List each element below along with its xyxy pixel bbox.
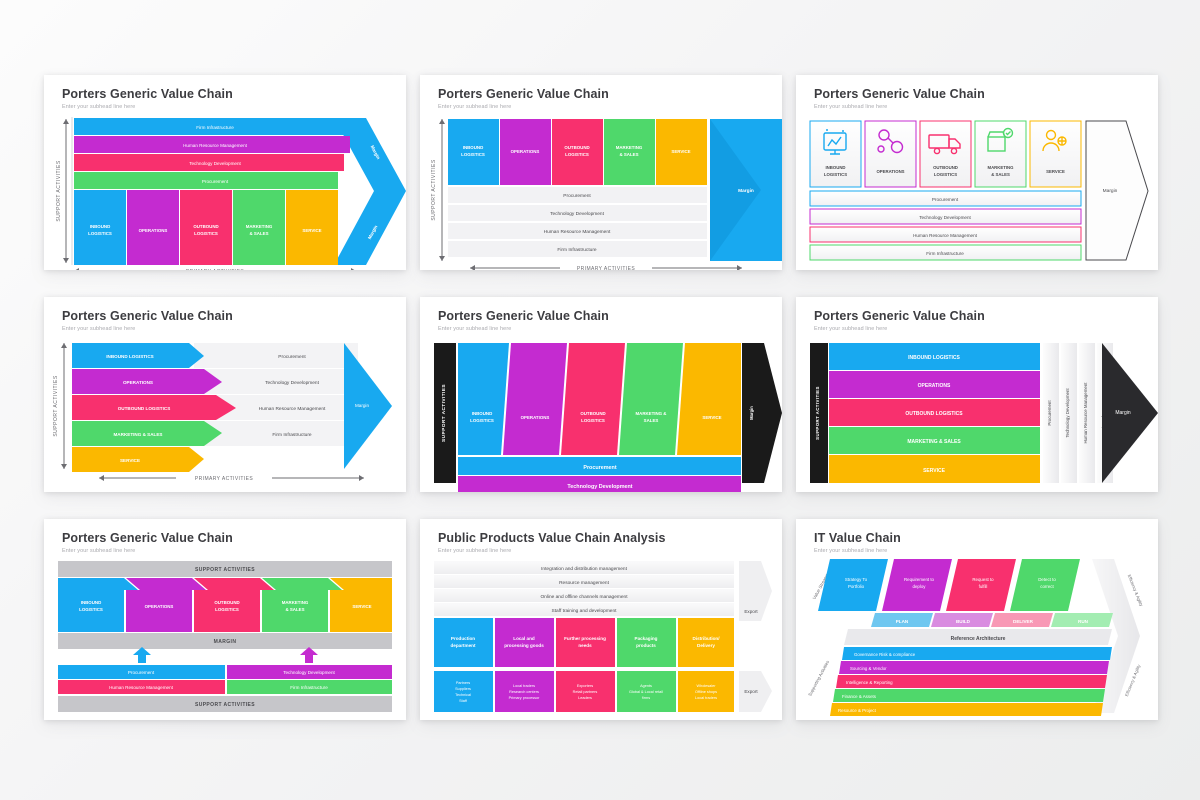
support-rows: Firm Infrastructure Human Resource Manag… xyxy=(74,118,356,189)
slide-7-diagram: SUPPORT ACTIVITIES INBOUND LOGISTICS OPE… xyxy=(44,519,406,719)
primary-col-line1: SERVICE xyxy=(352,604,371,609)
support-activities-axis: SUPPORT ACTIVITIES xyxy=(431,119,445,261)
upward-arrows xyxy=(133,647,318,663)
bottom-pair-label: Procurement xyxy=(128,670,155,675)
slide-6-diagram: SUPPORT ACTIVITIES INBOUND LOGISTICS OPE… xyxy=(796,297,1158,492)
margin-label: Margin xyxy=(1115,410,1131,416)
slide-card-4[interactable]: Porters Generic Value Chain Enter your s… xyxy=(44,297,406,492)
primary-col-line1: OPERATIONS xyxy=(145,604,174,609)
slide-card-8[interactable]: Public Products Value Chain Analysis Ent… xyxy=(420,519,782,720)
card-label-line1: OPERATIONS xyxy=(876,169,904,174)
primary-col-line1: OUTBOUND xyxy=(214,600,239,605)
primary-col-line2: LOGISTICS xyxy=(194,231,218,236)
main-cell-line1: Production xyxy=(451,636,475,641)
primary-activities-axis: PRIMARY ACTIVITIES xyxy=(99,475,364,482)
header-row-label: Integration and distribution management xyxy=(541,566,628,572)
band-label-bottom: SUPPORT ACTIVITIES xyxy=(195,702,255,708)
primary-row-label: INBOUND LOGISTICS xyxy=(106,354,153,359)
primary-col-line1: SERVICE xyxy=(671,149,690,154)
primary-col-line1: MARKETING xyxy=(616,145,643,150)
primary-col-line1: OUTBOUND xyxy=(580,411,605,416)
primary-col-line2: LOGISTICS xyxy=(565,152,589,157)
main-cell-line2: department xyxy=(450,643,475,648)
support-rows: Procurement Technology Development Human… xyxy=(458,457,741,492)
support-rows: Procurement Technology Development Human… xyxy=(194,343,358,446)
stream-phase: RUN xyxy=(1078,619,1089,624)
sub-cell-line: Local traders xyxy=(513,684,535,688)
primary-rows: INBOUND LOGISTICS OPERATIONS OUTBOUND LO… xyxy=(829,343,1040,483)
primary-col-line2: LOGISTICS xyxy=(581,418,605,423)
main-cell-line2: processing goods xyxy=(504,643,544,648)
slide-card-9[interactable]: IT Value Chain Enter your subhead line h… xyxy=(796,519,1158,720)
primary-col-line2: SALES xyxy=(644,418,659,423)
primary-col-line1: SERVICE xyxy=(302,228,321,233)
axis-label-primary: PRIMARY ACTIVITIES xyxy=(195,476,253,482)
stream-phase: PLAN xyxy=(896,619,909,624)
sub-cell-line: Agents xyxy=(640,684,652,688)
margin-label: Margin xyxy=(738,188,754,194)
sub-cell-line: Local traders xyxy=(695,696,717,700)
support-row-label: Human Resource Management xyxy=(259,406,326,412)
margin-arrow: Margin xyxy=(1086,121,1148,260)
primary-row-label: OPERATIONS xyxy=(918,383,951,389)
primary-col-line1: OUTBOUND xyxy=(564,145,589,150)
primary-row-label: SERVICE xyxy=(923,468,946,474)
header-rows: Integration and distribution management … xyxy=(434,561,734,616)
primary-col-line1: OPERATIONS xyxy=(139,228,168,233)
support-row-label: Human Resource Management xyxy=(544,229,611,235)
stream-line2: fulfill xyxy=(979,584,988,589)
primary-col-line2: LOGISTICS xyxy=(79,607,103,612)
margin-arrow: Margin xyxy=(1102,343,1158,483)
slide-card-5[interactable]: Porters Generic Value Chain Enter your s… xyxy=(420,297,782,492)
margin-label: Margin xyxy=(355,403,369,408)
stream-line1: Strategy To xyxy=(845,577,868,582)
sub-cell-line: Research centers xyxy=(509,690,539,694)
sub-cell-line: Staff xyxy=(459,699,468,703)
slide-card-2[interactable]: Porters Generic Value Chain Enter your s… xyxy=(420,75,782,270)
main-cell-line1: Packaging xyxy=(635,636,658,641)
band-label-top: SUPPORT ACTIVITIES xyxy=(195,567,255,573)
support-row-label: Procurement xyxy=(563,193,591,199)
slide-9-diagram: Efficiency & Agility Efficiency & Agilit… xyxy=(796,519,1158,719)
primary-col-line1: OPERATIONS xyxy=(521,415,550,420)
primary-icon-cards[interactable]: INBOUND LOGISTICS OPERATIONS OUTBOUND xyxy=(810,121,1081,187)
main-cell-line2: needs xyxy=(578,643,592,648)
bottom-pair-label: Firm Infrastructure xyxy=(290,685,328,690)
header-row-label: Online and offline channels management xyxy=(540,594,628,600)
export-arrow-top: Export xyxy=(739,561,772,621)
support-row-label: Procurement xyxy=(583,465,616,471)
sub-cell-line: Suppliers xyxy=(455,687,471,691)
stream-line1: Requirement to xyxy=(904,577,935,582)
slide-5-diagram: SUPPORT ACTIVITIES Margin INBOUND LOGIST… xyxy=(420,297,782,492)
slide-2-diagram: SUPPORT ACTIVITIES INBOUND LOGISTICS OPE… xyxy=(420,75,782,270)
margin-label: Margin xyxy=(749,406,754,420)
stream-line1: Detect to xyxy=(1038,577,1056,582)
primary-col-line1: MARKETING xyxy=(282,600,309,605)
sub-cell-line: Partners xyxy=(456,681,470,685)
support-col-label: Procurement xyxy=(1047,400,1052,426)
support-row-label: Procurement xyxy=(202,179,229,184)
slide-card-6[interactable]: Porters Generic Value Chain Enter your s… xyxy=(796,297,1158,492)
reference-label: Reference Architecture xyxy=(951,636,1006,642)
supporting-label: Finance & Assets xyxy=(842,694,877,699)
support-rows: Procurement Technology Development Human… xyxy=(810,191,1081,260)
card-label-line2: LOGISTICS xyxy=(934,172,957,177)
axis-label-support: SUPPORT ACTIVITIES xyxy=(441,384,447,442)
sub-cell-line: Leaders xyxy=(578,696,592,700)
primary-row-label: OUTBOUND LOGISTICS xyxy=(118,406,171,411)
support-row-label: Technology Development xyxy=(550,211,605,217)
sub-cell-line: Global & Local retail xyxy=(629,690,663,694)
slide-card-1[interactable]: Porters Generic Value Chain Enter your s… xyxy=(44,75,406,270)
card-label-line1: OUTBOUND xyxy=(933,165,958,170)
primary-columns: INBOUND LOGISTICS OPERATIONS OUTBOUND LO… xyxy=(448,119,707,185)
primary-col-line1: OUTBOUND xyxy=(193,224,218,229)
band-label-margin: MARGIN xyxy=(214,639,237,645)
header-row-label: Staff training and development xyxy=(552,608,618,614)
axis-label-support: SUPPORT ACTIVITIES xyxy=(431,159,437,220)
slide-1-diagram: SUPPORT ACTIVITIES Margin Margin Firm In… xyxy=(44,75,406,270)
axis-label-support: SUPPORT ACTIVITIES xyxy=(53,375,59,436)
main-cell-line2: products xyxy=(636,643,656,648)
left-label-supporting: Supporting Activities xyxy=(807,659,830,697)
export-label: Export xyxy=(744,689,758,694)
primary-col-line2: LOGISTICS xyxy=(88,231,112,236)
main-cell-line1: Local and xyxy=(513,636,535,641)
sub-cell-line: Exporters xyxy=(577,684,593,688)
primary-row-label: INBOUND LOGISTICS xyxy=(908,355,960,361)
support-col-label: Technology Development xyxy=(1065,388,1070,438)
primary-columns: INBOUND LOGISTICS OPERATIONS OUTBOUND LO… xyxy=(74,190,338,265)
sub-cell-line: Retail partners xyxy=(573,690,598,694)
axis-label-support: SUPPORT ACTIVITIES xyxy=(56,160,62,221)
primary-col-line1: MARKETING & xyxy=(636,411,668,416)
axis-label-primary: PRIMARY ACTIVITIES xyxy=(577,266,635,270)
primary-row-label: MARKETING & SALES xyxy=(907,439,961,445)
axis-label-primary: PRIMARY ACTIVITIES xyxy=(186,269,244,270)
support-row-label: Technology Development xyxy=(189,161,241,166)
band-margin: MARGIN xyxy=(58,633,392,649)
supporting-activities: Governance Risk & compliance Sourcing & … xyxy=(830,647,1112,716)
main-cell-line2: Delivery xyxy=(697,643,715,648)
support-activities-axis: SUPPORT ACTIVITIES xyxy=(53,343,67,469)
support-row-label: Human Resource Management xyxy=(913,233,978,238)
support-activities-rail: SUPPORT ACTIVITIES xyxy=(810,343,828,483)
export-label: Export xyxy=(744,609,758,614)
supporting-label: Intelligence & Reporting xyxy=(846,680,893,685)
slide-4-diagram: SUPPORT ACTIVITIES Procurement Technolog… xyxy=(44,297,406,492)
sub-cell-line: Technical xyxy=(455,693,471,697)
support-row-label: Procurement xyxy=(278,354,306,360)
primary-row-label: SERVICE xyxy=(120,458,140,463)
primary-col-line2: & SALES xyxy=(285,607,304,612)
supporting-label: Resource & Project xyxy=(838,708,877,713)
bottom-support-pairs: Procurement Technology Development Human… xyxy=(58,665,392,694)
primary-col-line2: & SALES xyxy=(249,231,268,236)
support-row-label: Firm Infrastructure xyxy=(272,432,312,438)
sub-cell-line: firms xyxy=(642,696,650,700)
primary-col-line1: MARKETING xyxy=(246,224,273,229)
support-row-label: Procurement xyxy=(932,197,959,202)
support-row-label: Technology Development xyxy=(919,215,971,220)
primary-chevrons: INBOUND LOGISTICS OPERATIONS OUTBOUND LO… xyxy=(58,578,392,632)
primary-row-label: OUTBOUND LOGISTICS xyxy=(905,411,963,417)
sub-cell-line: Wholesaler xyxy=(697,684,717,688)
header-row-label: Resource management xyxy=(559,580,610,586)
band-support-top: SUPPORT ACTIVITIES xyxy=(58,561,392,577)
slide-grid: Porters Generic Value Chain Enter your s… xyxy=(44,75,1158,720)
support-row-label: Firm Infrastructure xyxy=(196,125,234,130)
margin-arrow: Margin xyxy=(710,119,782,261)
primary-col-line1: OPERATIONS xyxy=(511,149,540,154)
primary-activities-axis: PRIMARY ACTIVITIES xyxy=(74,268,356,270)
primary-row-label: OPERATIONS xyxy=(123,380,153,385)
value-streams: Strategy To Portfolio PLAN Requirement t… xyxy=(818,559,1113,627)
primary-col-line2: LOGISTICS xyxy=(215,607,239,612)
main-cells: Production department Local and processi… xyxy=(434,618,734,667)
slide-card-7[interactable]: Porters Generic Value Chain Enter your s… xyxy=(44,519,406,720)
support-rows: Procurement Technology Development Human… xyxy=(448,187,707,257)
sub-cells: Partners Suppliers Technical Staff Local… xyxy=(434,671,734,712)
stream-phase: DELIVER xyxy=(1013,619,1034,624)
axis-label-support: SUPPORT ACTIVITIES xyxy=(815,386,820,440)
bottom-pair-label: Technology Development xyxy=(283,670,335,675)
stream-phase: BUILD xyxy=(956,619,971,624)
primary-col-line2: & SALES xyxy=(619,152,638,157)
stream-line2: correct xyxy=(1040,584,1054,589)
support-activities-rail: SUPPORT ACTIVITIES xyxy=(434,343,456,483)
supporting-label: Governance Risk & compliance xyxy=(854,652,916,657)
card-label-line1: MARKETING xyxy=(987,165,1014,170)
supporting-label: Sourcing & Vendor xyxy=(850,666,887,671)
card-label-line1: INBOUND xyxy=(825,165,845,170)
export-arrow-bottom: Export xyxy=(739,671,772,712)
support-col-label: Human Resource Management xyxy=(1083,382,1088,444)
support-row-label: Technology Development xyxy=(567,484,632,490)
sub-cell-line: Offline shops xyxy=(695,690,717,694)
margin-arrow: Margin xyxy=(742,343,782,483)
primary-col-line1: INBOUND xyxy=(463,145,484,150)
primary-row-label: MARKETING & SALES xyxy=(113,432,162,437)
card-label-line2: LOGISTICS xyxy=(824,172,847,177)
main-cell-line1: Further processing xyxy=(564,636,606,641)
card-label-line2: & SALES xyxy=(991,172,1010,177)
slide-3-diagram: INBOUND LOGISTICS OPERATIONS OUTBOUND xyxy=(796,75,1158,270)
stream-line1: Request to xyxy=(972,577,994,582)
primary-col-line2: LOGISTICS xyxy=(470,418,494,423)
support-activities-axis: SUPPORT ACTIVITIES xyxy=(56,119,69,263)
support-row-label: Firm Infrastructure xyxy=(926,251,964,256)
primary-col-line1: INBOUND xyxy=(81,600,102,605)
right-label-top: Efficiency & Agility xyxy=(1127,574,1145,608)
primary-activities-axis: PRIMARY ACTIVITIES xyxy=(470,265,742,270)
slide-8-diagram: Integration and distribution management … xyxy=(420,519,782,719)
primary-col-line1: SERVICE xyxy=(702,415,721,420)
support-row-label: Human Resource Management xyxy=(183,143,248,148)
card-label-line1: SERVICE xyxy=(1046,169,1065,174)
primary-columns: INBOUND LOGISTICS OPERATIONS OUTBOUND LO… xyxy=(458,343,741,455)
band-support-bottom: SUPPORT ACTIVITIES xyxy=(58,696,392,712)
sub-cell-line: Primary processor xyxy=(509,696,541,700)
main-cell-line1: Distribution/ xyxy=(692,636,720,641)
primary-col-line1: INBOUND xyxy=(472,411,493,416)
margin-label: Margin xyxy=(1103,188,1118,194)
bottom-pair-label: Human Resource Management xyxy=(109,685,174,690)
slide-card-3[interactable]: Porters Generic Value Chain Enter your s… xyxy=(796,75,1158,270)
margin-arrow: Margin xyxy=(344,343,392,469)
stream-line2: Portfolio xyxy=(848,584,865,589)
primary-col-line2: LOGISTICS xyxy=(461,152,485,157)
stream-line2: deploy xyxy=(913,584,927,589)
support-row-label: Firm Infrastructure xyxy=(557,247,597,253)
reference-architecture-band: Reference Architecture xyxy=(844,629,1112,645)
support-row-label: Technology Development xyxy=(265,380,320,386)
primary-col-line1: INBOUND xyxy=(90,224,111,229)
